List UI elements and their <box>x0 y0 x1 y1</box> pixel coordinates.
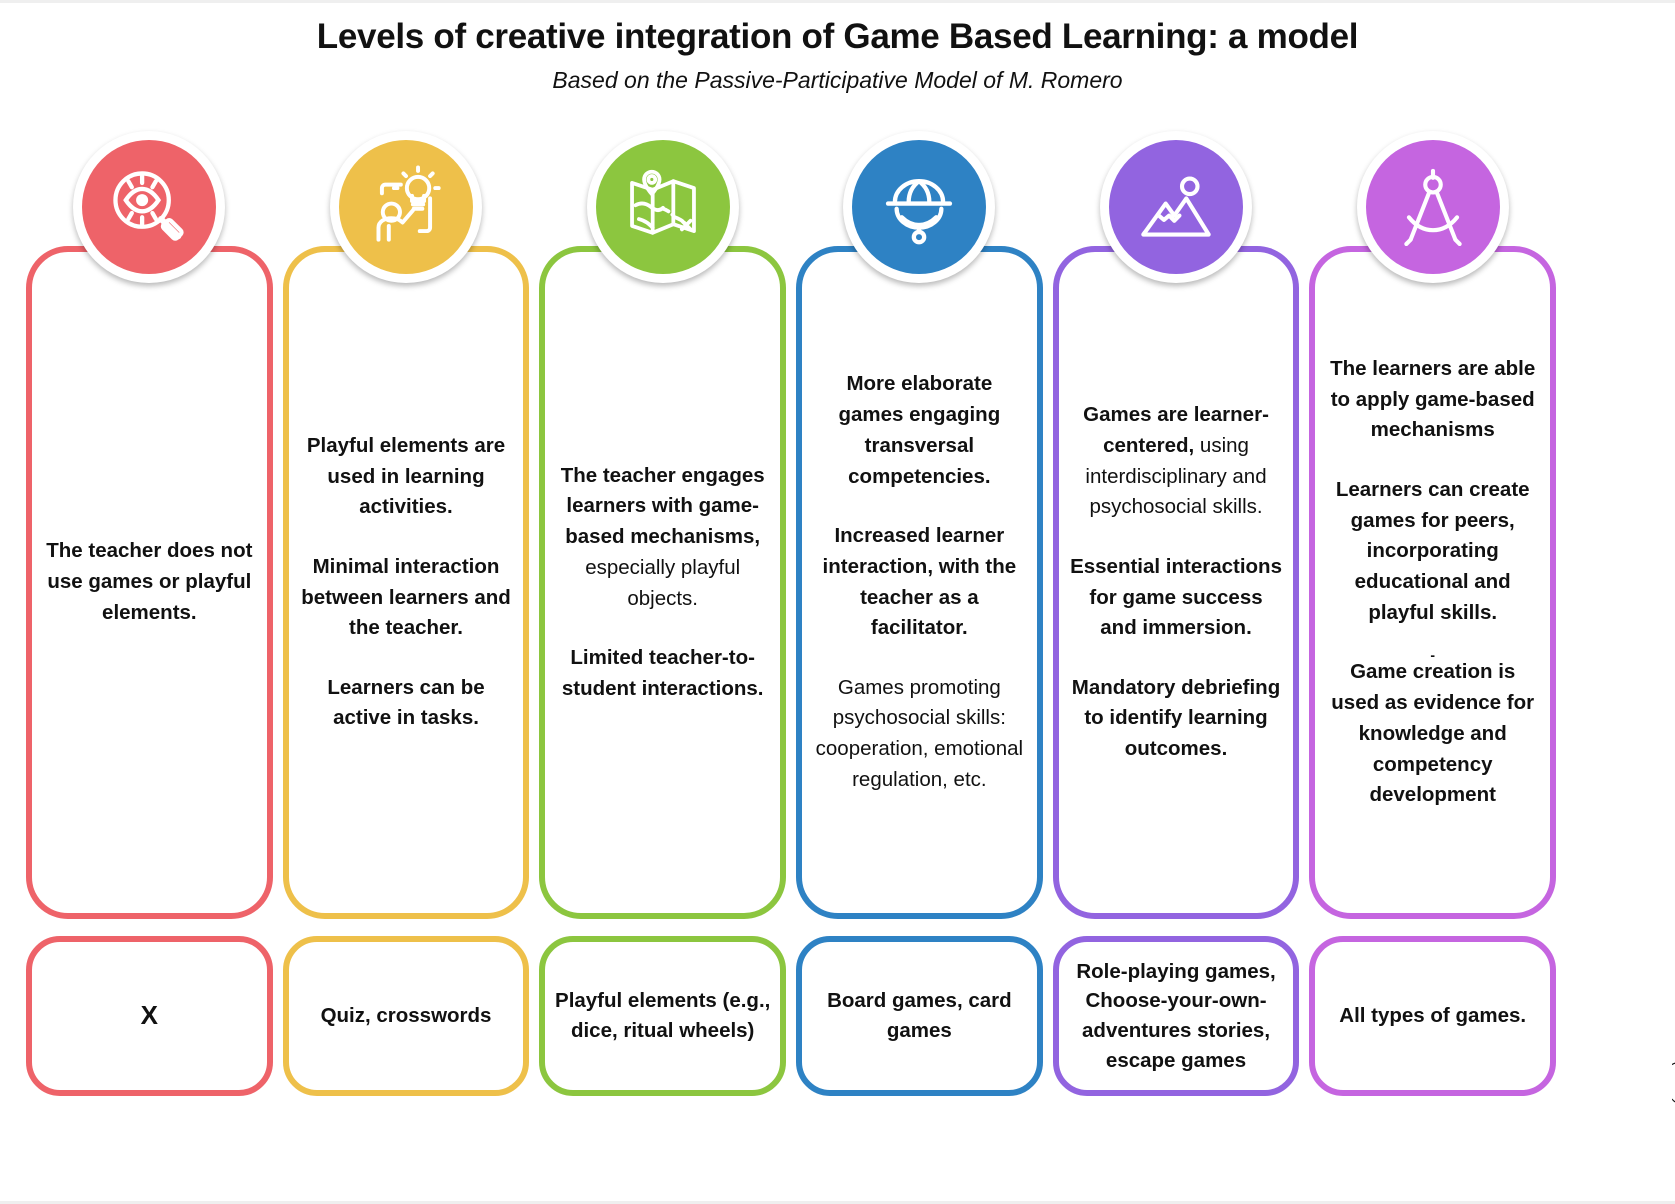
mountains-sun-icon <box>1133 164 1219 250</box>
levels-board: The teacher does not use games or playfu… <box>26 131 1556 1096</box>
page-subtitle: Based on the Passive-Participative Model… <box>0 67 1675 94</box>
example-text-1: X <box>141 997 158 1035</box>
level-column-5: Games are learner-centered, using interd… <box>1053 131 1300 1096</box>
level-column-2: Playful elements are used in learning ac… <box>283 131 530 1096</box>
credit-attribution: C. Rollo (2024) <box>1671 1004 1675 1105</box>
text-block: The teacher engages learners with game-b… <box>555 461 770 615</box>
text-block: Games promoting psychosocial skills: coo… <box>812 673 1027 796</box>
text-block: Mandatory debriefing to identify learnin… <box>1069 673 1284 765</box>
text-block: The teacher does not use games or playfu… <box>42 536 257 628</box>
example-card-1: X <box>26 936 273 1096</box>
level-text-2: Playful elements are used in learning ac… <box>299 431 514 734</box>
text-block: Limited teacher-to-student interactions. <box>555 643 770 705</box>
infographic-page: Levels of creative integration of Game B… <box>0 0 1675 1204</box>
eye-magnifier-icon <box>106 164 192 250</box>
level-column-1: The teacher does not use games or playfu… <box>26 131 273 1096</box>
level-column-6: The learners are able to apply game-base… <box>1309 131 1556 1096</box>
example-text-3: Playful elements (e.g., dice, ritual whe… <box>553 986 772 1045</box>
level-badge-6 <box>1357 131 1509 283</box>
text-block: Increased learner interaction, with the … <box>812 521 1027 644</box>
level-badge-4 <box>843 131 995 283</box>
text-block: Minimal interaction between learners and… <box>299 552 514 644</box>
level-badge-1 <box>73 131 225 283</box>
level-text-4: More elaborate games engaging transversa… <box>812 369 1027 795</box>
level-text-1: The teacher does not use games or playfu… <box>42 536 257 628</box>
example-card-3: Playful elements (e.g., dice, ritual whe… <box>539 936 786 1096</box>
level-text-3: The teacher engages learners with game-b… <box>555 461 770 705</box>
text-block: More elaborate games engaging transversa… <box>812 369 1027 492</box>
level-column-4: More elaborate games engaging transversa… <box>796 131 1043 1096</box>
badge-circle-2 <box>339 140 473 274</box>
text-block: Essential interactions for game success … <box>1069 552 1284 644</box>
level-card-3: The teacher engages learners with game-b… <box>539 246 786 919</box>
globe-orbit-icon <box>876 164 962 250</box>
badge-circle-1 <box>82 140 216 274</box>
example-card-4: Board games, card games <box>796 936 1043 1096</box>
example-card-6: All types of games. <box>1309 936 1556 1096</box>
example-text-2: Quiz, crosswords <box>321 1001 492 1031</box>
page-title: Levels of creative integration of Game B… <box>0 17 1675 57</box>
level-card-5: Games are learner-centered, using interd… <box>1053 246 1300 919</box>
level-badge-5 <box>1100 131 1252 283</box>
level-column-3: The teacher engages learners with game-b… <box>539 131 786 1096</box>
treasure-map-icon <box>620 164 706 250</box>
example-text-6: All types of games. <box>1339 1001 1526 1031</box>
drafting-compass-icon <box>1390 164 1476 250</box>
level-badge-3 <box>587 131 739 283</box>
badge-circle-5 <box>1109 140 1243 274</box>
example-card-5: Role-playing games, Choose-your-own-adve… <box>1053 936 1300 1096</box>
example-card-2: Quiz, crosswords <box>283 936 530 1096</box>
level-card-6: The learners are able to apply game-base… <box>1309 246 1556 919</box>
person-lightbulb-icon <box>363 164 449 250</box>
level-card-1: The teacher does not use games or playfu… <box>26 246 273 919</box>
text-block: Games are learner-centered, using interd… <box>1069 400 1284 523</box>
badge-circle-3 <box>596 140 730 274</box>
example-text-5: Role-playing games, Choose-your-own-adve… <box>1067 957 1286 1076</box>
text-block: Playful elements are used in learning ac… <box>299 431 514 523</box>
example-text-4: Board games, card games <box>810 986 1029 1045</box>
level-text-6: The learners are able to apply game-base… <box>1325 354 1540 811</box>
header: Levels of creative integration of Game B… <box>0 3 1675 94</box>
text-block: Learners can be active in tasks. <box>299 673 514 735</box>
level-text-5: Games are learner-centered, using interd… <box>1069 400 1284 765</box>
level-card-4: More elaborate games engaging transversa… <box>796 246 1043 919</box>
text-block: Learners can create games for peers, inc… <box>1325 475 1540 629</box>
level-badge-2 <box>330 131 482 283</box>
text-block: -Game creation is used as evidence for k… <box>1325 657 1540 811</box>
badge-circle-6 <box>1366 140 1500 274</box>
level-card-2: Playful elements are used in learning ac… <box>283 246 530 919</box>
text-block: The learners are able to apply game-base… <box>1325 354 1540 446</box>
badge-circle-4 <box>852 140 986 274</box>
